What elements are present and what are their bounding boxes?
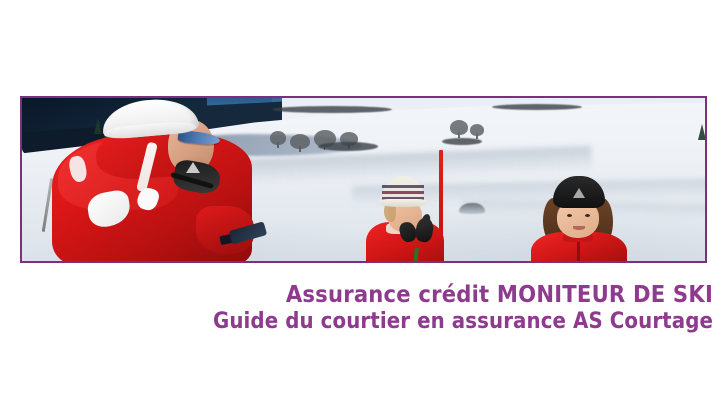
child-middle-figure xyxy=(360,174,452,261)
snow-rock-mound xyxy=(459,203,485,214)
conifer-tree-icon xyxy=(698,124,705,140)
dark-bush xyxy=(272,106,392,113)
headline-subtitle: Guide du courtier en assurance AS Courta… xyxy=(0,308,713,335)
beanie-brim xyxy=(380,199,426,207)
child-mouth xyxy=(573,226,585,230)
dark-bush xyxy=(318,142,378,151)
photo-canvas xyxy=(22,98,705,261)
dark-bush xyxy=(492,104,582,110)
beanie-stripe xyxy=(382,185,424,188)
bare-tree-icon xyxy=(290,134,310,149)
child-eye xyxy=(585,214,590,217)
dark-bush xyxy=(442,138,482,145)
ski-instructor-figure xyxy=(46,100,256,261)
child-right-figure xyxy=(527,176,631,261)
headline-block: Assurance crédit MONITEUR DE SKI Guide d… xyxy=(0,281,713,335)
banner-photo xyxy=(20,96,707,263)
child-eye xyxy=(567,214,572,217)
headline-title: Assurance crédit MONITEUR DE SKI xyxy=(0,281,713,308)
bare-tree-icon xyxy=(470,124,484,136)
bare-tree-icon xyxy=(270,131,286,145)
beanie-stripe xyxy=(382,191,424,194)
bare-tree-icon xyxy=(450,120,468,135)
